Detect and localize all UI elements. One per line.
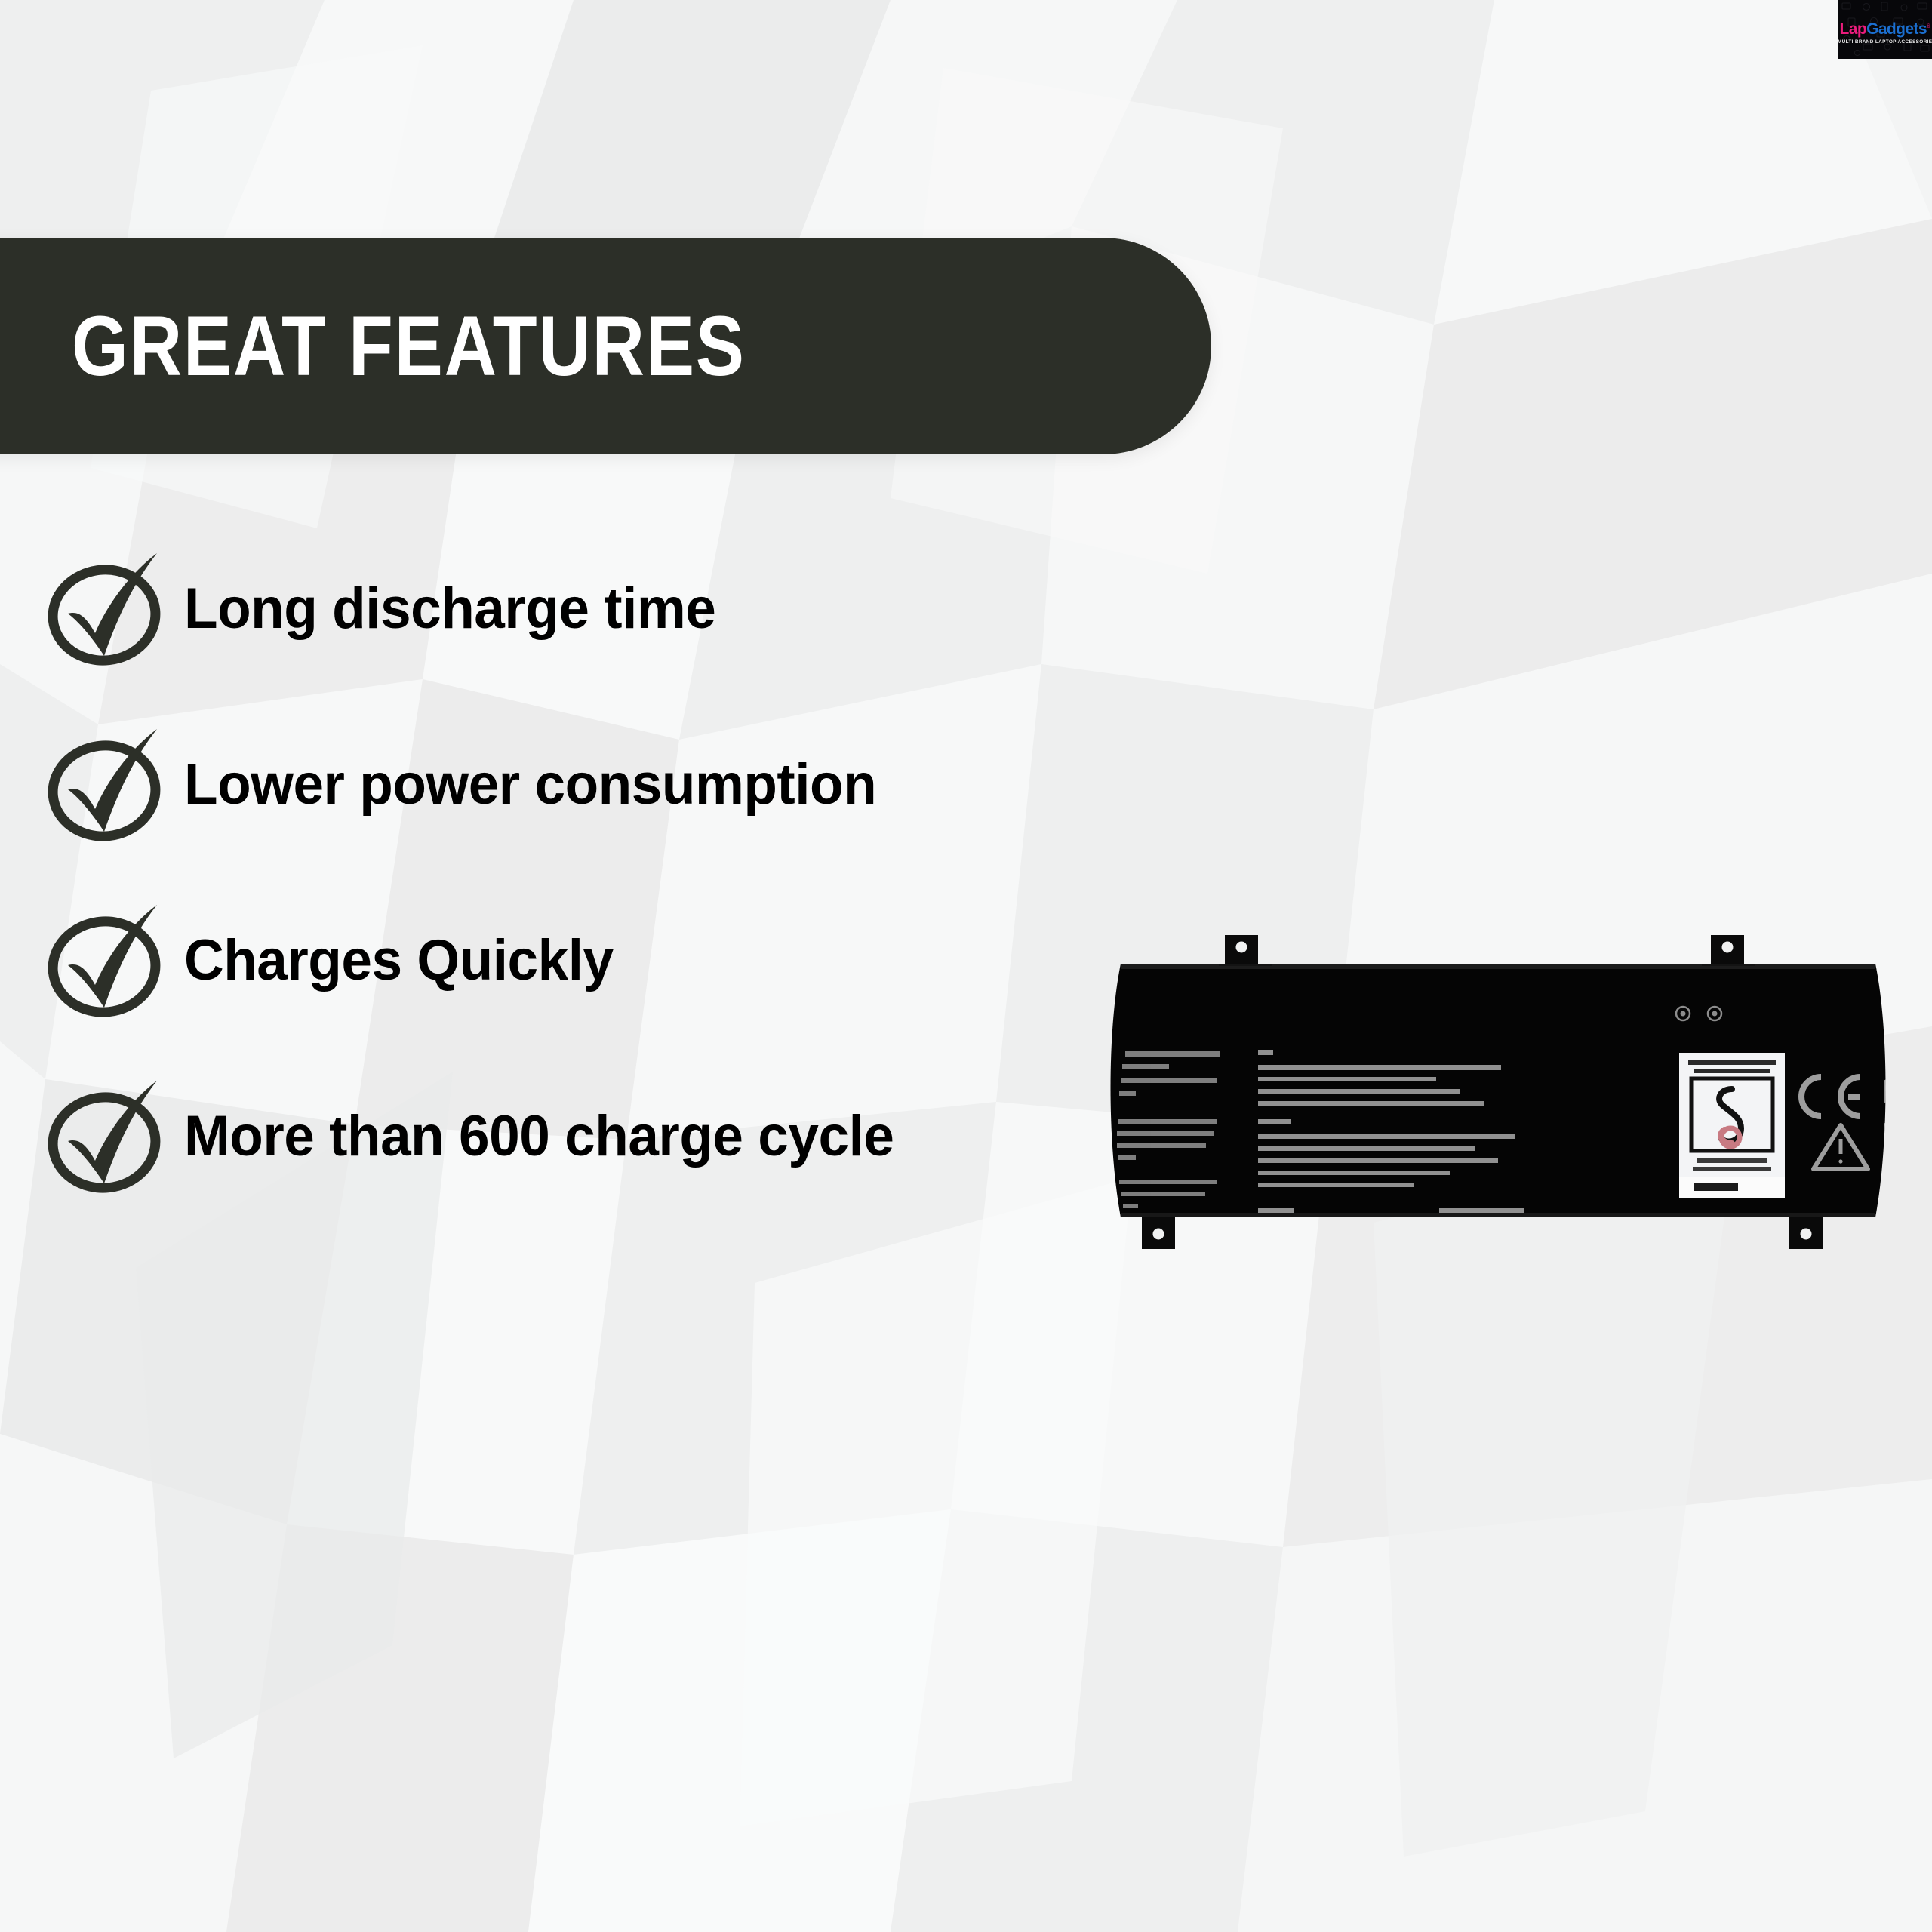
check-circle-icon (39, 893, 175, 1029)
page-title: GREAT FEATURES (72, 304, 746, 389)
feature-label: Charges Quickly (184, 932, 614, 989)
promo-graphic-page: LapGadgets® MULTI BRAND LAPTOP ACCESSORI… (0, 0, 1932, 1932)
check-circle-icon (39, 1069, 175, 1204)
brand-logo-badge: LapGadgets® MULTI BRAND LAPTOP ACCESSORI… (1838, 0, 1932, 59)
feature-label: Long discharge time (184, 580, 715, 638)
registered-trademark-icon: ® (1927, 24, 1930, 29)
logo-wordmark-gadgets: Gadgets (1866, 20, 1927, 38)
logo-tagline: MULTI BRAND LAPTOP ACCESSORIES STORE (1838, 40, 1932, 45)
check-circle-icon (39, 541, 175, 677)
feature-label: More than 600 charge cycle (184, 1108, 894, 1165)
feature-item: Long discharge time (0, 521, 1358, 697)
product-image-battery (1098, 917, 1898, 1264)
feature-item: Lower power consumption (0, 697, 1358, 872)
certification-label (1679, 1053, 1785, 1198)
check-circle-icon (39, 717, 175, 853)
logo-wordmark: LapGadgets® (1840, 21, 1930, 37)
feature-label: Lower power consumption (184, 756, 876, 814)
headline-banner: GREAT FEATURES (0, 238, 1211, 454)
logo-wordmark-lap: Lap (1840, 20, 1867, 38)
